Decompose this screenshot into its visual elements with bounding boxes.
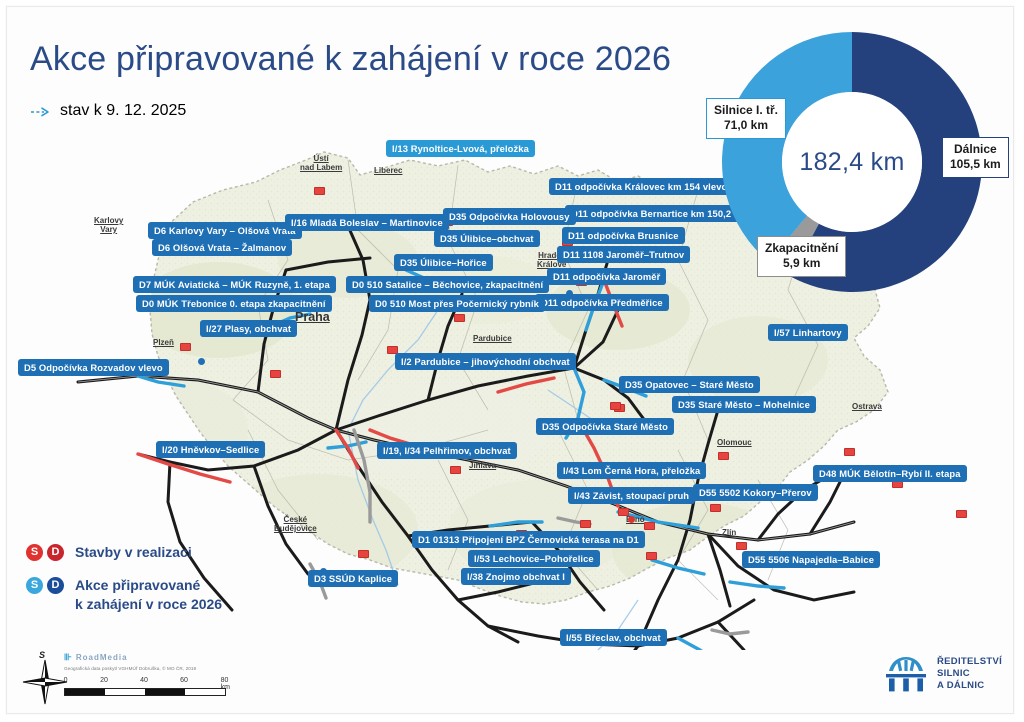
rsd-bridge-icon [884, 654, 928, 694]
map-label-l28[interactable]: D48 MÚK Bělotín–Rybí II. etapa [813, 465, 967, 482]
badge-d-icon: D [47, 577, 64, 594]
scale-tick-0: 0 [64, 677, 68, 684]
map-label-l33[interactable]: I/53 Lechovice–Pohořelice [468, 550, 600, 567]
map-label-l09[interactable]: D11 1108 Jaroměř–Trutnov [557, 246, 690, 263]
city-ceske-budejovice: ČeskéBudějovice [274, 515, 317, 533]
map-label-l13[interactable]: D7 MÚK Aviatická – MÚK Ruzyně, 1. etapa [133, 276, 336, 293]
legend-item-realizace: S D Stavby v realizaci [26, 543, 222, 562]
page-title: Akce připravované k zahájení v roce 2026 [30, 40, 671, 79]
city-jihlava: Jihlava [469, 461, 496, 470]
map-label-l25[interactable]: I/20 Hněvkov–Sedlice [156, 441, 265, 458]
city-zlin: Zlín [722, 528, 736, 537]
road-node [710, 504, 721, 512]
callout-dalnice-name: Dálnice [954, 142, 997, 156]
callout-zkap-name: Zkapacitnění [765, 241, 838, 255]
map-label-l04[interactable]: D35 Odpočívka Holovousy [443, 208, 576, 225]
road-node [314, 187, 325, 195]
callout-silnice-value: 71,0 km [724, 118, 768, 132]
realisation-point-marker [628, 516, 635, 523]
map-label-l14[interactable]: D0 510 Satalice – Běchovice, zkapacitněn… [346, 276, 549, 293]
scale-tick-2: 40 [140, 677, 148, 684]
road-node [454, 314, 465, 322]
map-label-l31[interactable]: D1 01313 Připojení BPZ Černovická terasa… [412, 531, 645, 548]
scale-tick-3: 60 [180, 677, 188, 684]
map-label-l17[interactable]: D0 510 Most přes Počernický rybník [369, 295, 545, 312]
rsd-line1: ŘEDITELSTVÍ [937, 656, 1002, 668]
map-label-l36[interactable]: I/55 Břeclav, obchvat [560, 629, 667, 646]
scale-bar [64, 688, 226, 696]
map-label-l23[interactable]: D35 Staré Město – Mohelnice [672, 396, 816, 413]
road-node [450, 466, 461, 474]
map-attribution: Geografická data poskytl VGHMÚř Dobruška… [64, 666, 226, 671]
map-label-l19[interactable]: I/57 Linhartovy [768, 324, 848, 341]
scale-seg [65, 689, 105, 695]
map-label-l12[interactable]: D11 odpočívka Jaroměř [547, 268, 666, 285]
city-olomouc: Olomouc [717, 438, 752, 447]
road-node [718, 452, 729, 460]
scale-seg [185, 689, 225, 695]
badge-d-icon: D [47, 544, 64, 561]
city-plzen: Plzeň [153, 338, 174, 347]
scale-bar-block: ⊪ RoadMedia Geografická data poskytl VGH… [64, 652, 226, 696]
city-ostrava: Ostrava [852, 402, 882, 411]
map-label-l10[interactable]: D6 Olšová Vrata – Žalmanov [152, 239, 292, 256]
legend-badges-realizace: S D [26, 544, 64, 561]
rsd-line3: A DÁLNIC [937, 680, 1002, 692]
callout-dalnice-value: 105,5 km [950, 157, 1001, 171]
subtitle-row: stav k 9. 12. 2025 [30, 102, 186, 120]
map-label-l15[interactable]: D11 odpočívka Předměřice [535, 294, 669, 311]
callout-zkapacitneni: Zkapacitnění 5,9 km [757, 236, 846, 277]
map-legend: S D Stavby v realizaci S D Akce připravo… [26, 543, 222, 628]
road-node [618, 508, 629, 516]
map-label-l27[interactable]: I/43 Lom Černá Hora, přeložka [557, 462, 706, 479]
map-label-l18[interactable]: I/27 Plasy, obchvat [200, 320, 297, 337]
legend-badges-pripravovane: S D [26, 577, 64, 594]
map-label-l16[interactable]: D0 MÚK Třebonice 0. etapa zkapacitnění [136, 295, 332, 312]
rsd-line2: SILNIC [937, 668, 1002, 680]
legend-item-pripravovane: S D Akce připravovanék zahájení v roce 2… [26, 576, 222, 614]
rsd-logo: ŘEDITELSTVÍ SILNIC A DÁLNIC [884, 654, 1002, 694]
city-praha: Praha [295, 310, 330, 324]
map-label-l22[interactable]: D35 Opatovec – Staré Město [619, 376, 760, 393]
map-label-l05[interactable]: D11 odpočívka Brusnice [562, 227, 685, 244]
dashed-arrow-icon [30, 105, 52, 117]
scale-seg [105, 689, 145, 695]
scale-seg [145, 689, 185, 695]
roadmedia-label: RoadMedia [76, 653, 128, 662]
scale-ticks: 020406080 km [64, 677, 224, 687]
scale-tick-1: 20 [100, 677, 108, 684]
planned-point-marker [198, 358, 205, 365]
badge-s-icon: S [26, 544, 43, 561]
subtitle-text: stav k 9. 12. 2025 [60, 102, 186, 120]
road-node [736, 542, 747, 550]
map-label-l08[interactable]: D35 Úlibice–obchvat [434, 230, 540, 247]
compass-rose: S [22, 650, 68, 708]
map-label-l29[interactable]: D55 5502 Kokory–Přerov [693, 484, 818, 501]
map-label-l06[interactable]: D6 Karlovy Vary – Olšová Vrata [148, 222, 302, 239]
roadmedia-brand: ⊪ RoadMedia [64, 652, 226, 663]
road-node [180, 343, 191, 351]
map-label-l02[interactable]: D11 odpočívka Královec km 154 vlevo [549, 178, 733, 195]
road-node [358, 550, 369, 558]
map-label-l32[interactable]: D55 5506 Napajedla–Babice [742, 551, 880, 568]
city-liberec: Liberec [374, 166, 402, 175]
callout-silnice-i-tr: Silnice I. tř. 71,0 km [706, 98, 786, 139]
compass-icon [22, 658, 68, 710]
callout-dalnice: Dálnice 105,5 km [942, 137, 1009, 178]
road-node [610, 402, 621, 410]
map-label-l11[interactable]: D35 Úlibice–Hořice [394, 254, 493, 271]
road-node [270, 370, 281, 378]
badge-s-icon: S [26, 577, 43, 594]
map-label-l35[interactable]: I/38 Znojmo obchvat I [461, 568, 571, 585]
city-karlovy-vary: KarlovyVary [94, 216, 123, 234]
map-label-l07[interactable]: I/16 Mladá Boleslav – Martinovice [285, 214, 449, 231]
city-pardubice: Pardubice [473, 334, 512, 343]
city-usti: Ústínad Labem [300, 154, 342, 172]
map-label-l20[interactable]: I/2 Pardubice – jihovýchodní obchvat [395, 353, 576, 370]
rsd-wordmark: ŘEDITELSTVÍ SILNIC A DÁLNIC [937, 656, 1002, 692]
legend-label-realizace: Stavby v realizaci [75, 543, 192, 562]
map-label-l34[interactable]: D3 SSÚD Kaplice [308, 570, 398, 587]
map-label-l24[interactable]: D35 Odpočívka Staré Město [536, 418, 674, 435]
callout-zkap-value: 5,9 km [783, 256, 820, 270]
road-node [580, 520, 591, 528]
road-node [644, 522, 655, 530]
map-label-l01[interactable]: I/13 Rynoltice-Lvová, přeložka [386, 140, 535, 157]
road-node [646, 552, 657, 560]
callout-silnice-name: Silnice I. tř. [714, 103, 778, 117]
road-node [844, 448, 855, 456]
road-node [956, 510, 967, 518]
infographic-page: Akce připravované k zahájení v roce 2026… [0, 0, 1024, 722]
map-label-l21[interactable]: D5 Odpočívka Rozvadov vlevo [18, 359, 169, 376]
map-label-l26[interactable]: I/19, I/34 Pelhřimov, obchvat [377, 442, 517, 459]
legend-label-pripravovane: Akce připravovanék zahájení v roce 2026 [75, 576, 222, 614]
map-label-l30[interactable]: I/43 Závist, stoupací pruh [568, 487, 695, 504]
roadmedia-mark-icon: ⊪ [64, 652, 73, 663]
